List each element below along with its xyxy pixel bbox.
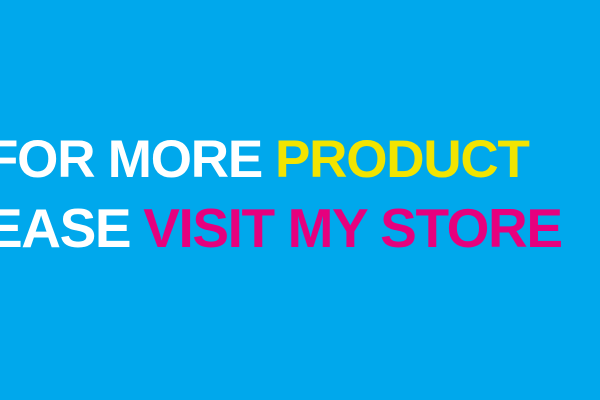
headline-block: FOR MOREPRODUCT EASEVISIT MY STORE [0,126,600,262]
headline-segment-please: EASE [0,197,130,259]
headline-segment-visit-my-store: VISIT MY STORE [143,197,561,259]
headline-segment-for-more: FOR MORE [0,130,262,189]
headline-line-1: FOR MOREPRODUCT [0,126,600,194]
headline-segment-product: PRODUCT [275,130,529,189]
headline-line-2: EASEVISIT MY STORE [0,194,600,262]
promo-banner: FOR MOREPRODUCT EASEVISIT MY STORE [0,0,600,400]
